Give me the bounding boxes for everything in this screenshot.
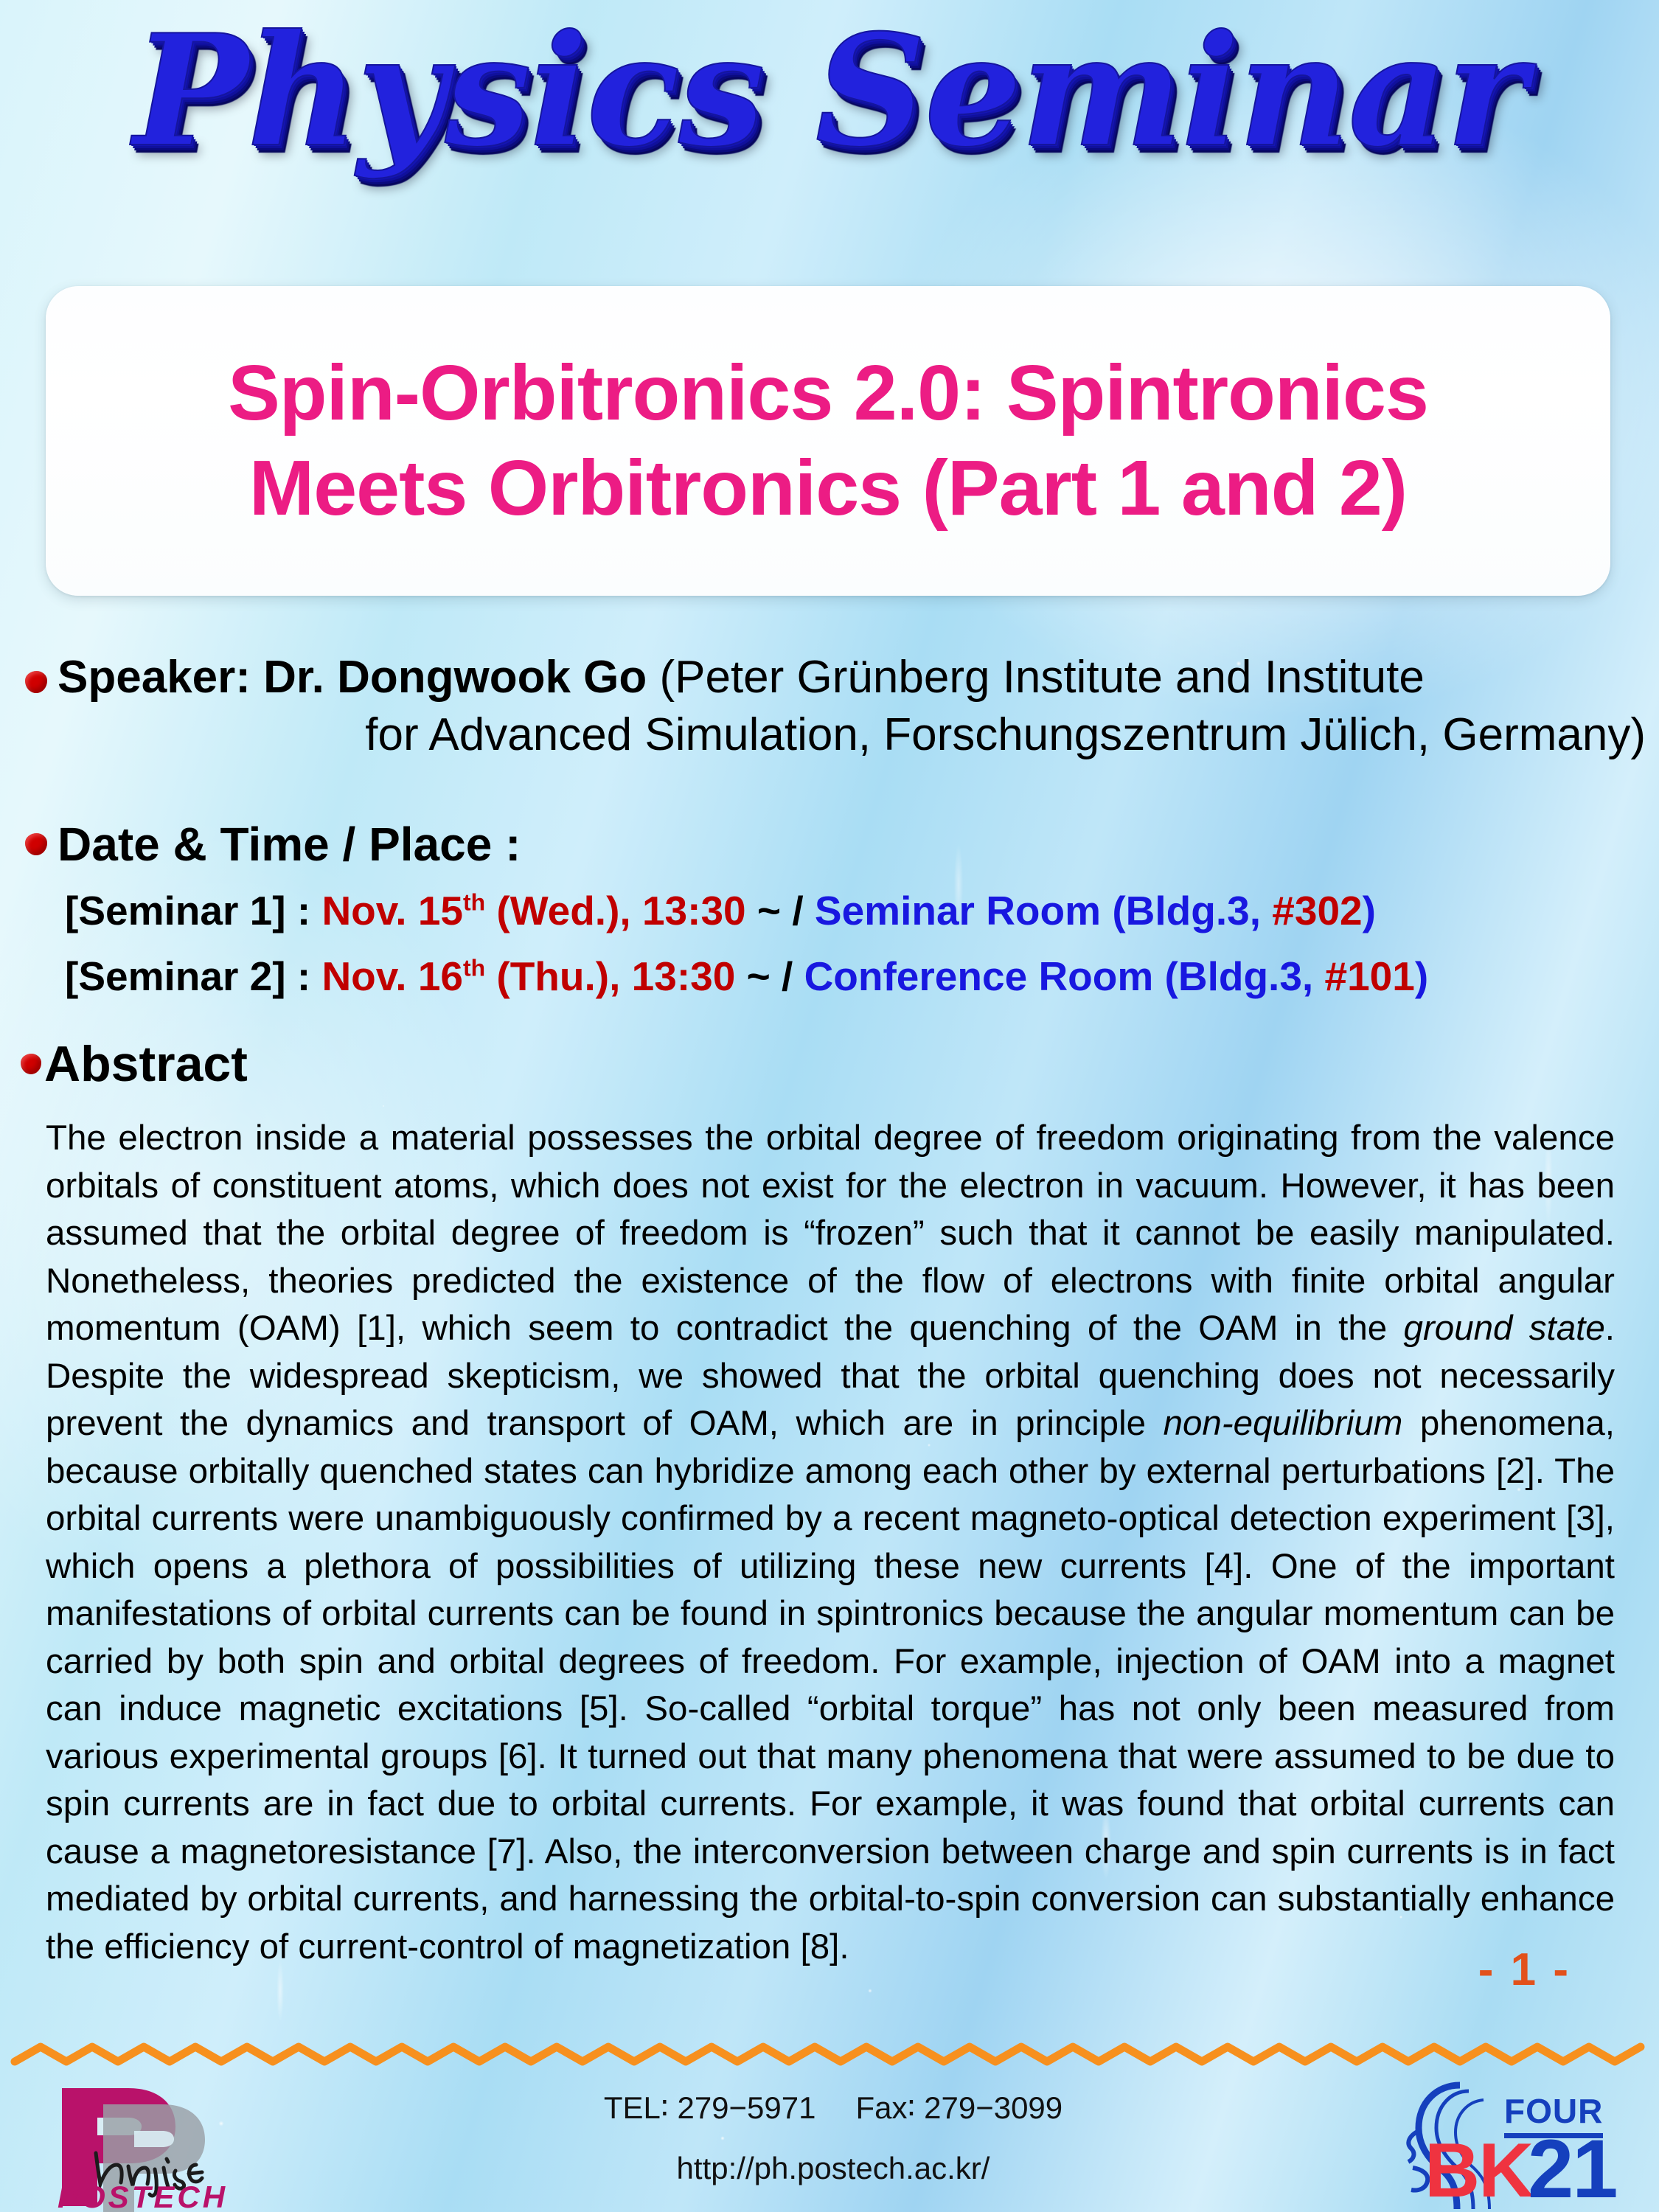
seminar-1-room-close: ) bbox=[1363, 888, 1376, 933]
seminar-schedule-row: [Seminar 2] : Nov. 16th (Thu.), 13:30 ~ … bbox=[65, 956, 1635, 997]
seminar-title-line-1: Spin-Orbitronics 2.0: Spintronics bbox=[228, 346, 1428, 441]
bk21-21-label: 21 bbox=[1528, 2128, 1617, 2211]
seminar-title-box: Spin-Orbitronics 2.0: Spintronics Meets … bbox=[46, 286, 1610, 596]
postech-wordmark: POSTECH bbox=[58, 2180, 228, 2212]
seminar-schedule-row: [Seminar 1] : Nov. 15th (Wed.), 13:30 ~ … bbox=[65, 891, 1635, 931]
contact-url[interactable]: http://ph.postech.ac.kr/ bbox=[516, 2153, 1150, 2184]
seminar-title: Spin-Orbitronics 2.0: Spintronics Meets … bbox=[198, 346, 1458, 537]
abstract-heading-label: Abstract bbox=[44, 1035, 248, 1093]
datetime-heading-label: Date & Time / Place : bbox=[58, 817, 521, 872]
seminar-2-tag: [Seminar 2] : bbox=[65, 953, 321, 999]
page-number: - 1 - bbox=[1478, 1944, 1571, 1996]
contact-info: TEL∶ 279−5971Fax∶ 279−3099 http://ph.pos… bbox=[516, 2093, 1150, 2184]
red-diamond-bullet-icon bbox=[25, 833, 47, 855]
abstract-body: The electron inside a material possesses… bbox=[46, 1115, 1615, 1971]
speaker-affiliation-line-1: (Peter Grünberg Institute and Institute bbox=[647, 652, 1425, 703]
seminar-poster: Physics Seminar Spin-Orbitronics 2.0: Sp… bbox=[0, 0, 1659, 2212]
seminar-1-date: Nov. 15 bbox=[321, 888, 463, 933]
seminar-2-ordinal: th bbox=[463, 955, 485, 981]
seminar-1-ordinal: th bbox=[463, 889, 485, 916]
seminar-1-tag: [Seminar 1] : bbox=[65, 888, 321, 933]
seminar-1-daytime: (Wed.), 13:30 bbox=[485, 888, 746, 933]
abstract-italic-2: non-equilibrium bbox=[1164, 1404, 1403, 1443]
seminar-title-line-2: Meets Orbitronics (Part 1 and 2) bbox=[228, 441, 1428, 536]
speaker-section: Speaker: Dr. Dongwook Go (Peter Grünberg… bbox=[25, 649, 1647, 764]
seminar-2-room-number: #101 bbox=[1324, 953, 1414, 999]
abstract-italic-1: ground state bbox=[1404, 1309, 1605, 1348]
seminar-2-room: Conference Room (Bldg.3, bbox=[804, 953, 1325, 999]
seminar-1-room: Seminar Room (Bldg.3, bbox=[815, 888, 1272, 933]
seminar-2-room-close: ) bbox=[1415, 953, 1428, 999]
seminar-1-room-number: #302 bbox=[1272, 888, 1362, 933]
abstract-heading: Abstract bbox=[21, 1035, 248, 1093]
seminar-2-separator: ~ / bbox=[735, 953, 804, 999]
red-diamond-bullet-icon bbox=[25, 671, 47, 693]
seminar-schedule-list: [Seminar 1] : Nov. 15th (Wed.), 13:30 ~ … bbox=[65, 891, 1635, 1022]
abstract-part-1: The electron inside a material possesses… bbox=[46, 1119, 1615, 1348]
zigzag-divider-icon bbox=[0, 2039, 1659, 2069]
contact-fax: Fax∶ 279−3099 bbox=[856, 2090, 1063, 2125]
speaker-text: Speaker: Dr. Dongwook Go (Peter Grünberg… bbox=[58, 649, 1647, 764]
footer: POSTECH TEL∶ 279−5971Fax∶ 279−3099 http:… bbox=[0, 2072, 1659, 2212]
seminar-1-separator: ~ / bbox=[746, 888, 815, 933]
contact-phone-row: TEL∶ 279−5971Fax∶ 279−3099 bbox=[516, 2093, 1150, 2124]
seminar-2-date: Nov. 16 bbox=[321, 953, 463, 999]
speaker-affiliation-line-2: for Advanced Simulation, Forschungszentr… bbox=[58, 706, 1647, 764]
page-title: Physics Seminar bbox=[0, 15, 1659, 168]
bk21-bk-label: BK bbox=[1425, 2132, 1532, 2209]
datetime-heading: Date & Time / Place : bbox=[25, 817, 521, 872]
red-diamond-bullet-icon bbox=[21, 1054, 41, 1074]
abstract-part-3: phenomena, because orbitally quenched st… bbox=[46, 1404, 1615, 1966]
contact-tel: TEL∶ 279−5971 bbox=[604, 2090, 816, 2125]
speaker-label: Speaker: Dr. Dongwook Go bbox=[58, 652, 647, 703]
seminar-2-daytime: (Thu.), 13:30 bbox=[485, 953, 735, 999]
